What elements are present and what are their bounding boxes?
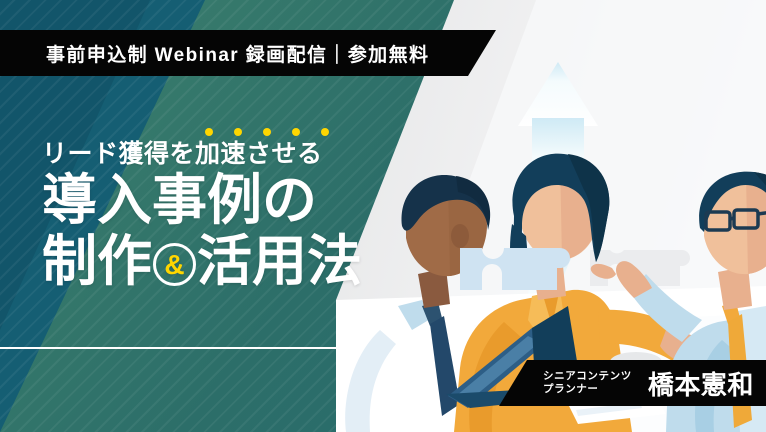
dot-icon bbox=[205, 128, 213, 136]
dot-icon bbox=[234, 128, 242, 136]
speaker-bar: シニアコンテンツ プランナー 橋本憲和 bbox=[497, 360, 766, 406]
headline-subtitle: リード獲得を加速させる bbox=[42, 140, 382, 169]
speaker-role-line-2: プランナー bbox=[543, 383, 632, 396]
dot-icon bbox=[321, 128, 329, 136]
dot-icon bbox=[292, 128, 300, 136]
headline-title-line-2: 制作 & 活用法 bbox=[42, 232, 382, 291]
speaker-name: 橋本憲和 bbox=[648, 365, 754, 402]
webinar-banner: 事前申込制 Webinar 録画配信｜参加無料 リード獲得を加速させる 導入事例… bbox=[0, 0, 766, 432]
headline-block: リード獲得を加速させる 導入事例の 制作 & 活用法 bbox=[42, 140, 382, 292]
speaker-role-line-1: シニアコンテンツ bbox=[543, 370, 632, 383]
ampersand-badge: & bbox=[153, 243, 196, 286]
top-label-bar: 事前申込制 Webinar 録画配信｜参加無料 bbox=[0, 30, 496, 76]
decorative-dots bbox=[205, 128, 329, 136]
divider-line bbox=[0, 347, 342, 349]
puzzle-piece bbox=[460, 248, 570, 290]
headline-title-text-2-right: 活用法 bbox=[197, 232, 362, 291]
headline-title-line-1: 導入事例の bbox=[42, 171, 382, 230]
dot-icon bbox=[263, 128, 271, 136]
headline-title-text-2-left: 制作 bbox=[42, 232, 152, 291]
top-label-text: 事前申込制 Webinar 録画配信｜参加無料 bbox=[0, 40, 429, 67]
headline-title-text-1: 導入事例の bbox=[42, 171, 317, 230]
speaker-role: シニアコンテンツ プランナー bbox=[543, 370, 632, 396]
